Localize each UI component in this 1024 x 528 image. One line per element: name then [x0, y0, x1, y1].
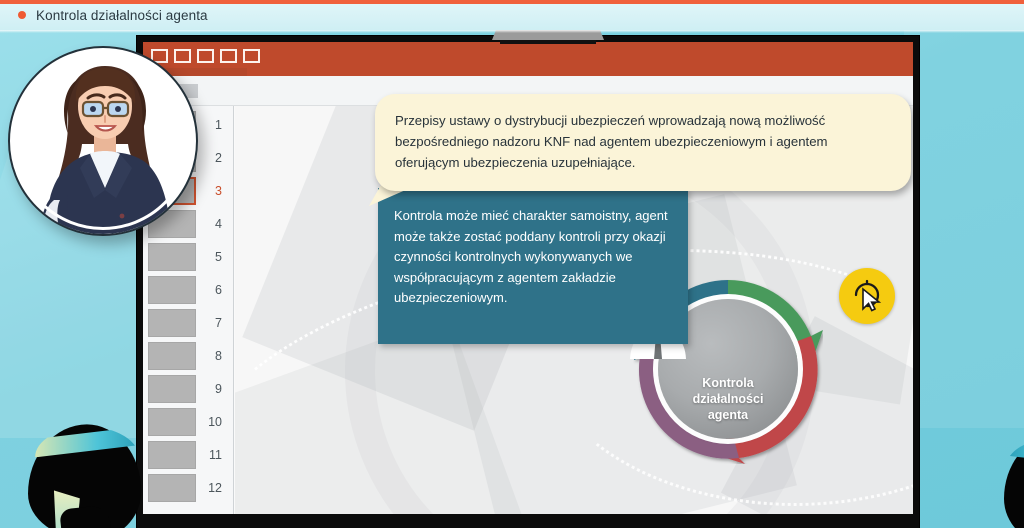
avatar-frame — [8, 46, 198, 236]
slide-thumbnail-image[interactable] — [148, 441, 196, 469]
cycle-center-line-2: działalności — [693, 391, 764, 407]
slide-thumbnail-5[interactable]: 5 — [143, 240, 233, 273]
click-hint-bubble[interactable] — [839, 268, 895, 324]
cycle-center-label: Kontrola działalności agenta — [693, 375, 764, 423]
cycle-center-line-1: Kontrola — [693, 375, 764, 391]
app-window: 123456789101112 — [143, 42, 913, 514]
slide-thumbnail-number: 9 — [202, 382, 222, 396]
slide-thumbnail-number: 8 — [202, 349, 222, 363]
room-wall-panel-right — [904, 28, 1024, 428]
speech-bubble: Przepisy ustawy o dystrybucji ubezpiecze… — [375, 94, 911, 191]
header-accent-rule — [0, 0, 1024, 4]
avatar-illustration — [10, 48, 196, 234]
ribbon-tab-4-icon[interactable] — [220, 49, 237, 63]
slide-thumbnail-image[interactable] — [148, 474, 196, 502]
slide-thumbnail-number: 3 — [202, 184, 222, 198]
header-shadow — [0, 30, 1024, 33]
projector-base — [500, 40, 596, 44]
app-ribbon-toolbar[interactable] — [143, 42, 913, 76]
slide-thumbnail-image[interactable] — [148, 243, 196, 271]
slide-thumbnail-image[interactable] — [148, 408, 196, 436]
audience-head-left — [28, 424, 141, 528]
ribbon-tab-3-icon[interactable] — [197, 49, 214, 63]
slide-thumbnail-12[interactable]: 12 — [143, 471, 233, 504]
slide-thumbnail-image[interactable] — [148, 276, 196, 304]
ribbon-tab-5-icon[interactable] — [243, 49, 260, 63]
header-bullet-icon — [18, 11, 26, 19]
slide-thumbnail-11[interactable]: 11 — [143, 438, 233, 471]
slide-thumbnail-number: 5 — [202, 250, 222, 264]
slide-thumbnail-image[interactable] — [148, 375, 196, 403]
click-cursor-icon — [850, 278, 884, 312]
slide-thumbnail-number: 7 — [202, 316, 222, 330]
slide-thumbnail-number: 2 — [202, 151, 222, 165]
slide-thumbnail-10[interactable]: 10 — [143, 405, 233, 438]
slide-thumbnail-number: 12 — [202, 481, 222, 495]
presenter-avatar — [8, 46, 198, 236]
slide-thumbnail-number: 11 — [202, 448, 222, 462]
slide-thumbnail-7[interactable]: 7 — [143, 306, 233, 339]
slide-thumbnail-8[interactable]: 8 — [143, 339, 233, 372]
speech-bubble-text: Przepisy ustawy o dystrybucji ubezpiecze… — [395, 110, 891, 173]
page-header-bar: Kontrola działalności agenta — [0, 0, 1024, 30]
slide-thumbnail-number: 4 — [202, 217, 222, 231]
slide-thumbnail-6[interactable]: 6 — [143, 273, 233, 306]
slide-thumbnail-number: 1 — [202, 118, 222, 132]
audience-head-right — [1004, 436, 1024, 528]
presentation-app-frame: 123456789101112 — [137, 36, 919, 528]
page-title: Kontrola działalności agenta — [36, 8, 208, 23]
teal-text: Kontrola może mieć charakter samoistny, … — [394, 206, 668, 309]
slide-thumbnail-number: 10 — [202, 415, 222, 429]
slide-thumbnail-image[interactable] — [148, 309, 196, 337]
slide-thumbnail-9[interactable]: 9 — [143, 372, 233, 405]
teal-text-box: Kontrola może mieć charakter samoistny, … — [378, 188, 688, 344]
screen-stage: 123456789101112 — [0, 0, 1024, 528]
cycle-center-line-3: agenta — [693, 407, 764, 423]
slide-thumbnail-number: 6 — [202, 283, 222, 297]
slide-thumbnail-image[interactable] — [148, 342, 196, 370]
